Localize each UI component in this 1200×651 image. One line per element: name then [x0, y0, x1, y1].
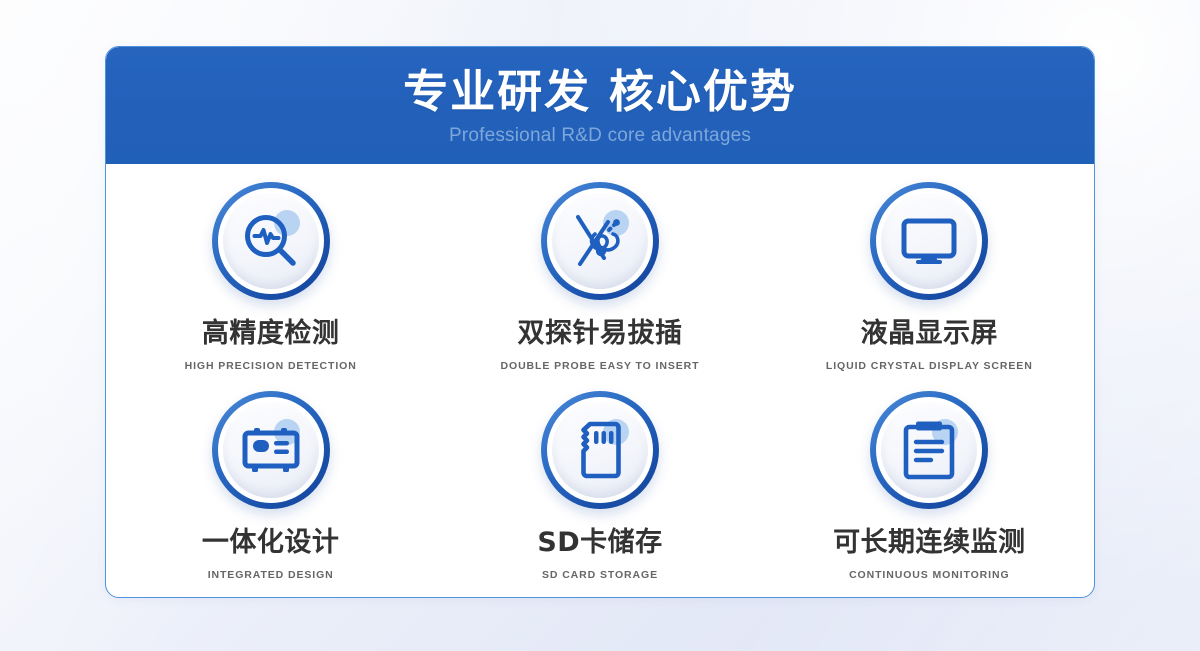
page-background: 专业研发 核心优势 Professional R&D core advantag… — [0, 0, 1200, 651]
icon-badge — [870, 391, 988, 509]
icon-badge-face — [552, 193, 648, 289]
card-header: 专业研发 核心优势 Professional R&D core advantag… — [106, 47, 1094, 164]
instrument-device-icon — [239, 418, 303, 482]
feature-item-high-precision-detection[interactable]: 高精度检测 HIGH PRECISION DETECTION — [106, 164, 435, 373]
dual-probe-icon — [568, 209, 632, 273]
feature-item-integrated-design[interactable]: 一体化设计 INTEGRATED DESIGN — [106, 373, 435, 582]
icon-badge-inner — [547, 397, 653, 503]
icon-badge — [212, 391, 330, 509]
feature-item-sd-card-storage[interactable]: SD卡储存 SD CARD STORAGE — [435, 373, 764, 582]
feature-title: 液晶显示屏 — [765, 318, 1094, 350]
icon-badge — [541, 182, 659, 300]
page-title: 专业研发 核心优势 — [106, 47, 1094, 120]
feature-title: SD卡储存 — [435, 527, 764, 559]
feature-item-continuous-monitoring[interactable]: 可长期连续监测 CONTINUOUS MONITORING — [765, 373, 1094, 582]
icon-badge-inner — [876, 188, 982, 294]
feature-subtitle: HIGH PRECISION DETECTION — [106, 359, 435, 373]
icon-badge-face — [552, 402, 648, 498]
features-grid: 高精度检测 HIGH PRECISION DETECTION — [106, 164, 1094, 582]
clipboard-records-icon — [897, 418, 961, 482]
feature-item-double-probe[interactable]: 双探针易拔插 DOUBLE PROBE EASY TO INSERT — [435, 164, 764, 373]
feature-subtitle: SD CARD STORAGE — [435, 568, 764, 582]
sd-card-icon — [568, 418, 632, 482]
feature-title: 可长期连续监测 — [765, 527, 1094, 559]
icon-badge — [541, 391, 659, 509]
feature-title: 高精度检测 — [106, 318, 435, 350]
icon-badge-face — [223, 193, 319, 289]
feature-subtitle: CONTINUOUS MONITORING — [765, 568, 1094, 582]
feature-subtitle: LIQUID CRYSTAL DISPLAY SCREEN — [765, 359, 1094, 373]
icon-badge-face — [223, 402, 319, 498]
monitor-screen-icon — [897, 209, 961, 273]
icon-badge-inner — [876, 397, 982, 503]
icon-badge — [870, 182, 988, 300]
magnifier-pulse-icon — [239, 209, 303, 273]
icon-badge-inner — [218, 397, 324, 503]
advantages-card: 专业研发 核心优势 Professional R&D core advantag… — [105, 46, 1095, 598]
icon-badge-face — [881, 193, 977, 289]
icon-badge-inner — [547, 188, 653, 294]
feature-item-lcd-screen[interactable]: 液晶显示屏 LIQUID CRYSTAL DISPLAY SCREEN — [765, 164, 1094, 373]
feature-title: 一体化设计 — [106, 527, 435, 559]
feature-title: 双探针易拔插 — [435, 318, 764, 350]
icon-badge — [212, 182, 330, 300]
page-subtitle: Professional R&D core advantages — [106, 120, 1094, 148]
feature-subtitle: INTEGRATED DESIGN — [106, 568, 435, 582]
icon-badge-inner — [218, 188, 324, 294]
icon-badge-face — [881, 402, 977, 498]
feature-subtitle: DOUBLE PROBE EASY TO INSERT — [435, 359, 764, 373]
